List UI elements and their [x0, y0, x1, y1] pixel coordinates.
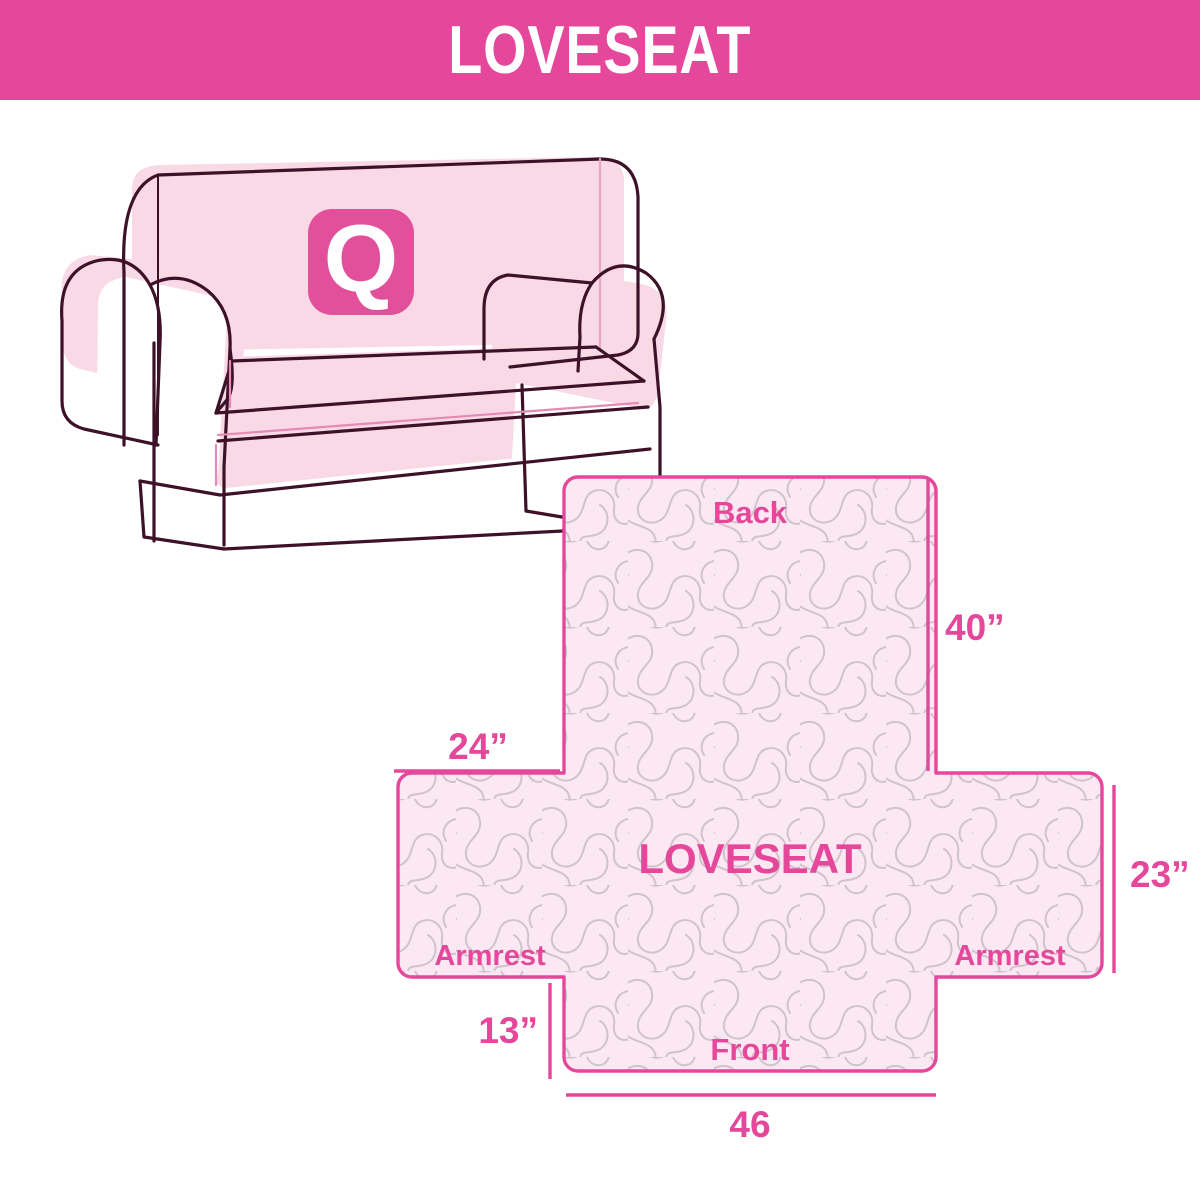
flat-pattern-diagram: Back LOVESEAT Armrest Armrest Front 40” … — [370, 455, 1200, 1155]
panel-label-center: LOVESEAT — [638, 835, 862, 882]
panel-label-back: Back — [713, 495, 788, 530]
diagram-stage: Q — [0, 100, 1200, 1200]
panel-label-armrest-left: Armrest — [434, 940, 546, 972]
header-banner: LOVESEAT — [0, 0, 1200, 100]
dimension-value-40: 40” — [945, 607, 1005, 648]
dimension-value-23: 23” — [1130, 854, 1190, 895]
dimension-armrest-left-width: 24” — [394, 726, 560, 771]
panel-label-front: Front — [710, 1032, 789, 1067]
dimension-value-46: 46 — [729, 1104, 770, 1145]
page-title: LOVESEAT — [449, 16, 752, 84]
slipcover-flat-shape — [398, 477, 1102, 1071]
cross-panel-outline — [398, 477, 1102, 1071]
panel-label-armrest-right: Armrest — [954, 940, 1066, 972]
dimension-front-height: 13” — [478, 983, 550, 1079]
dimension-back-height: 40” — [928, 479, 1005, 771]
dimension-value-24: 24” — [448, 726, 508, 767]
logo-letter: Q — [324, 205, 399, 312]
dimension-value-13: 13” — [478, 1010, 538, 1051]
dimension-front-width: 46 — [566, 1095, 936, 1145]
brand-logo: Q — [308, 205, 414, 315]
dimension-armrest-height: 23” — [1114, 785, 1190, 973]
